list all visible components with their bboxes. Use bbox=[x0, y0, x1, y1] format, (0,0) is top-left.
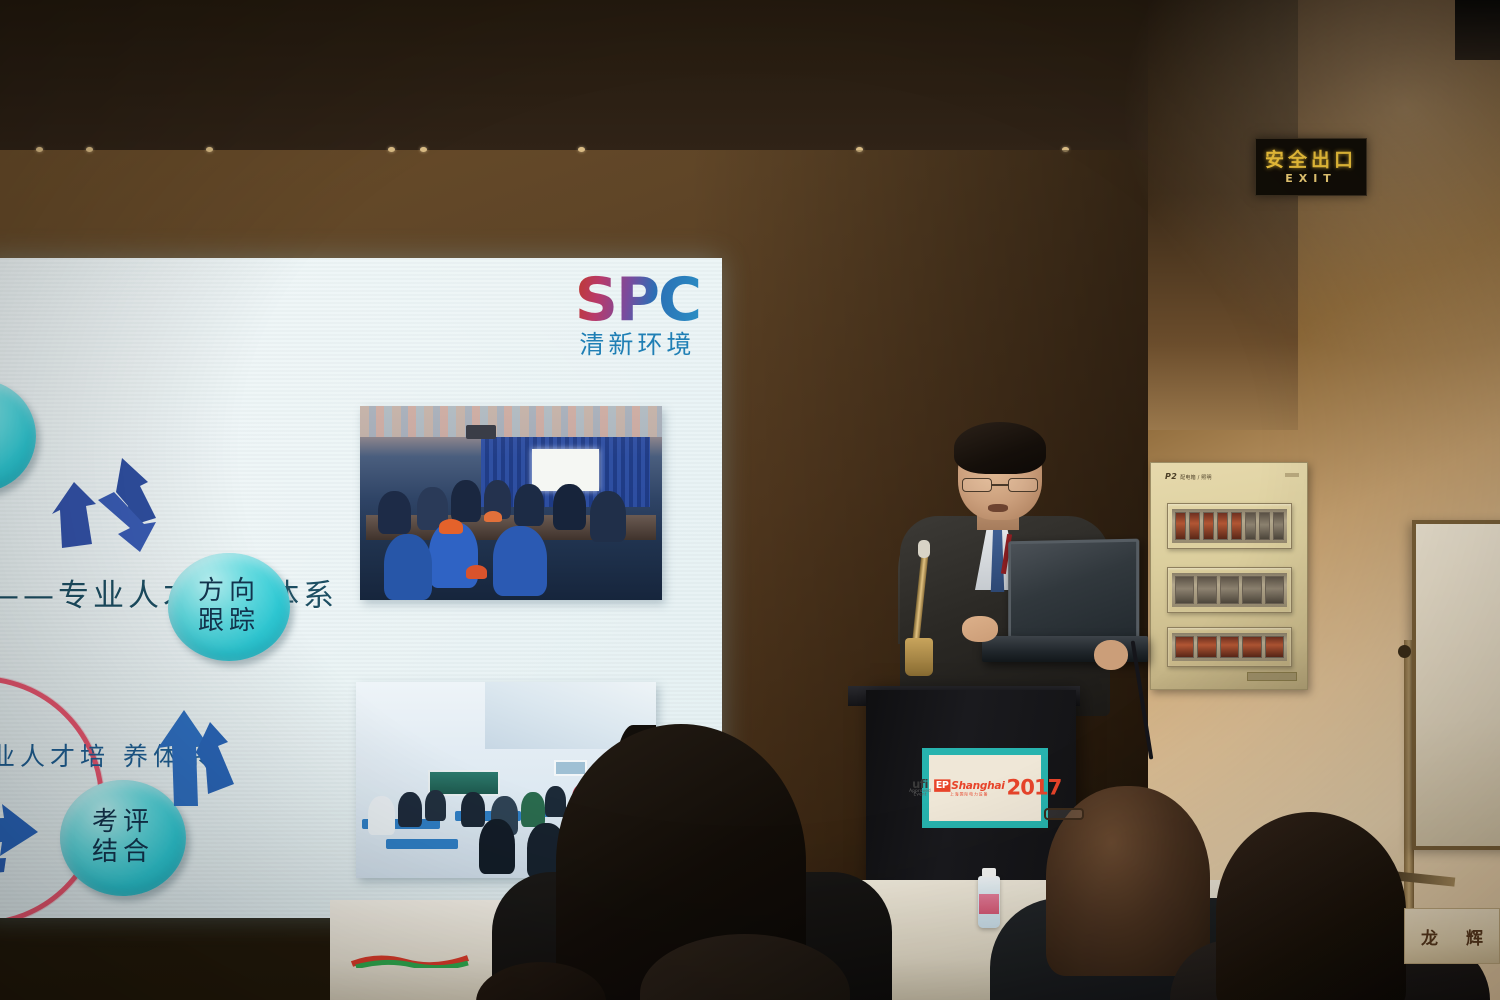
speaker-right-hand bbox=[1094, 640, 1128, 670]
ep-shanghai-logo: EP Shanghai 上海国际电力设备 2017 bbox=[934, 778, 1062, 797]
breaker-row-2 bbox=[1167, 567, 1292, 613]
exit-sign-english-label: EXIT bbox=[1285, 173, 1337, 184]
microphone-head bbox=[918, 540, 930, 558]
audience-head-4 bbox=[1216, 812, 1406, 1000]
arrow-pair-lower bbox=[142, 698, 252, 808]
exit-sign-chinese-label: 安全出口 bbox=[1265, 151, 1357, 170]
breaker-row-1 bbox=[1167, 503, 1292, 549]
bubble-direction-tracking: 方向 跟踪 bbox=[168, 553, 290, 661]
top-right-corner-shadow bbox=[1455, 0, 1500, 60]
audience-glasses bbox=[1044, 808, 1084, 820]
microphone-base bbox=[905, 638, 933, 676]
bubble-top-left: 人 责 bbox=[0, 380, 36, 492]
center-label-line1: 专业人才培 bbox=[0, 742, 110, 771]
ufi-sub-line2: Event bbox=[909, 794, 931, 798]
whiteboard-adjust-knob bbox=[1398, 645, 1411, 658]
electrical-distribution-panel: P2配电箱 / 照明 bbox=[1150, 462, 1308, 690]
speaker-left-hand bbox=[962, 616, 998, 642]
arrow-left-lower bbox=[0, 798, 42, 888]
spc-logo: SPC 清新环境 bbox=[575, 270, 700, 357]
speaker-hair bbox=[954, 422, 1046, 474]
lanyard-on-table bbox=[350, 952, 470, 968]
breaker-row-3 bbox=[1167, 627, 1292, 667]
podium-event-banner: ufi Approved Event EP Shanghai 上海国际电力设备 … bbox=[922, 748, 1048, 828]
panel-corner-tag bbox=[1285, 473, 1299, 477]
upper-wall-strip bbox=[0, 0, 1150, 152]
ep-chinese-subtitle: 上海国际电力设备 bbox=[934, 791, 1005, 797]
water-bottle-right bbox=[978, 876, 1000, 928]
ep-tag: EP bbox=[934, 779, 950, 791]
speaker-mouth bbox=[988, 504, 1008, 512]
whiteboard bbox=[1412, 520, 1500, 850]
spc-logo-company-name: 清新环境 bbox=[575, 332, 700, 357]
training-meeting-photo bbox=[360, 406, 662, 600]
laptop-screen bbox=[1008, 539, 1139, 642]
exit-sign: 安全出口 EXIT bbox=[1255, 138, 1367, 196]
spc-logo-wordmark: SPC bbox=[575, 270, 700, 330]
ep-city: Shanghai bbox=[951, 779, 1004, 791]
electrical-panel-label: P2配电箱 / 照明 bbox=[1165, 472, 1212, 481]
conference-room-photo: 安全出口 EXIT P2配电箱 / 照明 bbox=[0, 0, 1500, 1000]
speaker-glasses bbox=[962, 478, 1038, 492]
delegate-name-card: 龙 辉 bbox=[1404, 908, 1500, 964]
arrow-pair-upper bbox=[52, 448, 192, 563]
panel-nameplate bbox=[1247, 672, 1297, 681]
ufi-logo-text: ufi bbox=[909, 778, 931, 790]
delegate-name-text: 龙 辉 bbox=[1421, 924, 1494, 949]
ufi-approved-event-logo: ufi Approved Event bbox=[909, 778, 931, 798]
ep-year: 2017 bbox=[1006, 778, 1061, 797]
